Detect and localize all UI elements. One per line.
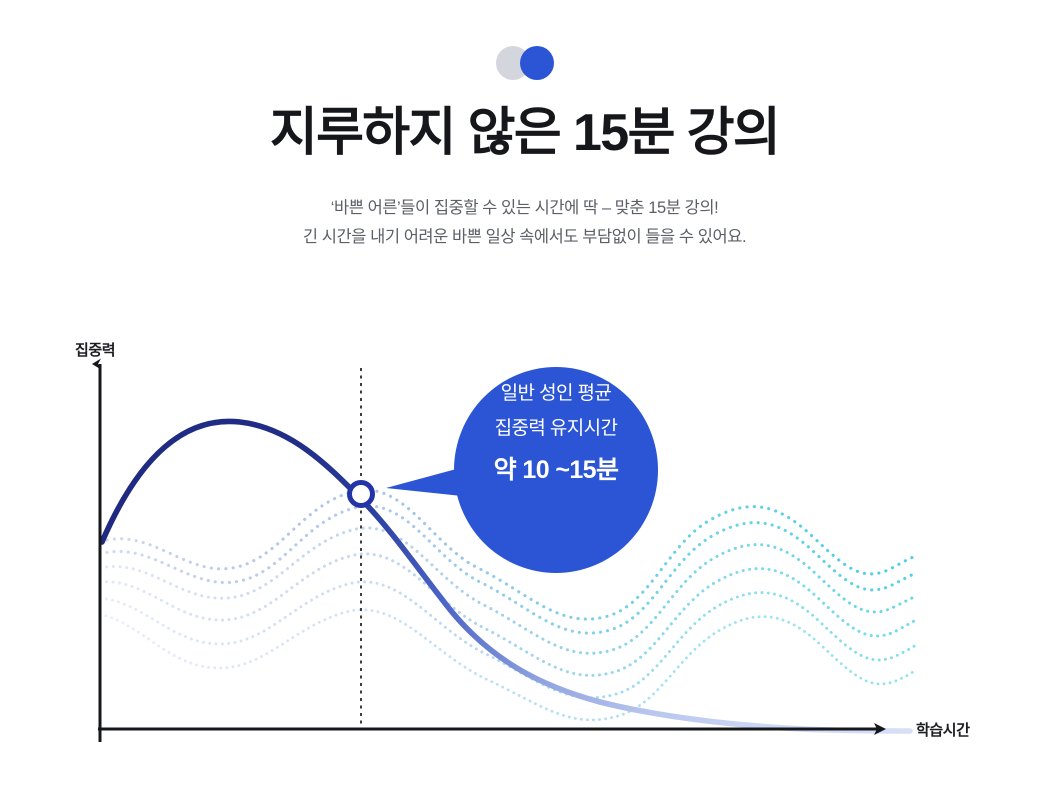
callout-line-2: 집중력 유지시간: [495, 417, 618, 439]
page-subtitle: ‘바쁜 어른’들이 집중할 수 있는 시간에 딱 – 맞춘 15분 강의! 긴 …: [0, 194, 1049, 252]
brand-logo: [0, 41, 1049, 85]
page-root: 지루하지 않은 15분 강의 ‘바쁜 어른’들이 집중할 수 있는 시간에 딱 …: [0, 0, 1049, 794]
concentration-chart: 일반 성인 평균 집중력 유지시간 약 10 ~15분 집중력 학습시간: [0, 330, 1049, 770]
curve-marker-point: [350, 483, 373, 506]
subtitle-line-1: ‘바쁜 어른’들이 집중할 수 있는 시간에 딱 – 맞춘 15분 강의!: [0, 194, 1049, 223]
callout-value: 약 10 ~15분: [494, 456, 619, 484]
logo-dot-blue-icon: [520, 46, 554, 80]
page-title: 지루하지 않은 15분 강의: [0, 104, 1049, 164]
y-axis-label: 집중력: [75, 341, 115, 359]
callout-line-1: 일반 성인 평균: [501, 382, 612, 404]
subtitle-line-2: 긴 시간을 내기 어려운 바쁜 일상 속에서도 부담없이 들을 수 있어요.: [0, 223, 1049, 252]
x-axis-label: 학습시간: [916, 722, 970, 739]
